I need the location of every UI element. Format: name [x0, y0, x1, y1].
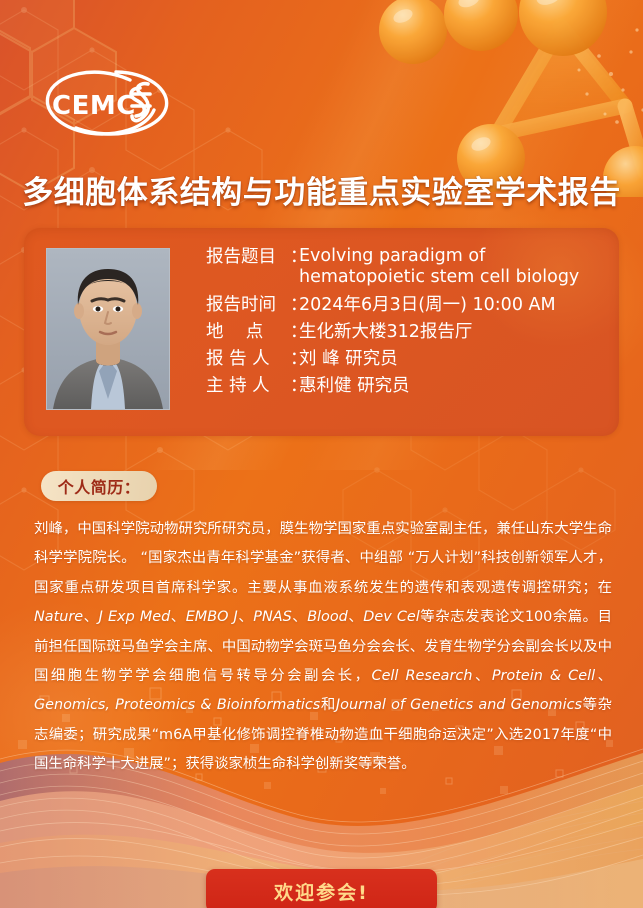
field-value-topic: Evolving paradigm of hematopoietic stem …: [299, 246, 606, 289]
field-value-host: 惠利健 研究员: [299, 375, 606, 397]
field-colon: ：: [290, 321, 299, 343]
field-value-speaker: 刘 峰 研究员: [299, 348, 606, 370]
bio-paragraph: 刘峰，中国科学院动物研究所研究员，膜生物学国家重点实验室副主任，兼任山东大学生命…: [34, 515, 612, 779]
page-title: 多细胞体系结构与功能重点实验室学术报告: [0, 167, 643, 212]
welcome-label: 欢迎参会!: [274, 878, 369, 905]
field-colon: ：: [290, 375, 299, 397]
field-colon: ：: [290, 348, 299, 370]
seminar-info-card: 报告题目 ： Evolving paradigm of hematopoieti…: [24, 228, 619, 436]
field-row-time: 报告时间 ： 2024年6月3日(周一) 10:00 AM: [206, 294, 606, 316]
svg-text:CEMC: CEMC: [52, 91, 136, 121]
field-label: 报告题目: [206, 246, 290, 268]
field-row-speaker: 报 告 人 ： 刘 峰 研究员: [206, 348, 606, 370]
field-colon: ：: [290, 246, 299, 268]
field-label: 主 持 人: [206, 375, 290, 397]
seminar-fields: 报告题目 ： Evolving paradigm of hematopoieti…: [206, 246, 606, 402]
field-label: 报 告 人: [206, 348, 290, 370]
cemc-logo: CEMC: [36, 62, 186, 144]
field-row-topic: 报告题目 ： Evolving paradigm of hematopoieti…: [206, 246, 606, 289]
field-colon: ：: [290, 294, 299, 316]
speaker-photo: [46, 248, 170, 410]
field-label: 地 点: [206, 321, 290, 343]
welcome-banner: 欢迎参会!: [206, 869, 437, 908]
bio-badge-label: 个人简历：: [58, 474, 141, 498]
field-value-location: 生化新大楼312报告厅: [299, 321, 606, 343]
field-row-host: 主 持 人 ： 惠利健 研究员: [206, 375, 606, 397]
bio-section-badge: 个人简历：: [41, 471, 157, 501]
field-row-location: 地 点 ： 生化新大楼312报告厅: [206, 321, 606, 343]
field-value-time: 2024年6月3日(周一) 10:00 AM: [299, 294, 606, 316]
field-label: 报告时间: [206, 294, 290, 316]
seminar-poster: CEMC 多细胞体系结构与功能重点实验室学术报告: [0, 0, 643, 908]
